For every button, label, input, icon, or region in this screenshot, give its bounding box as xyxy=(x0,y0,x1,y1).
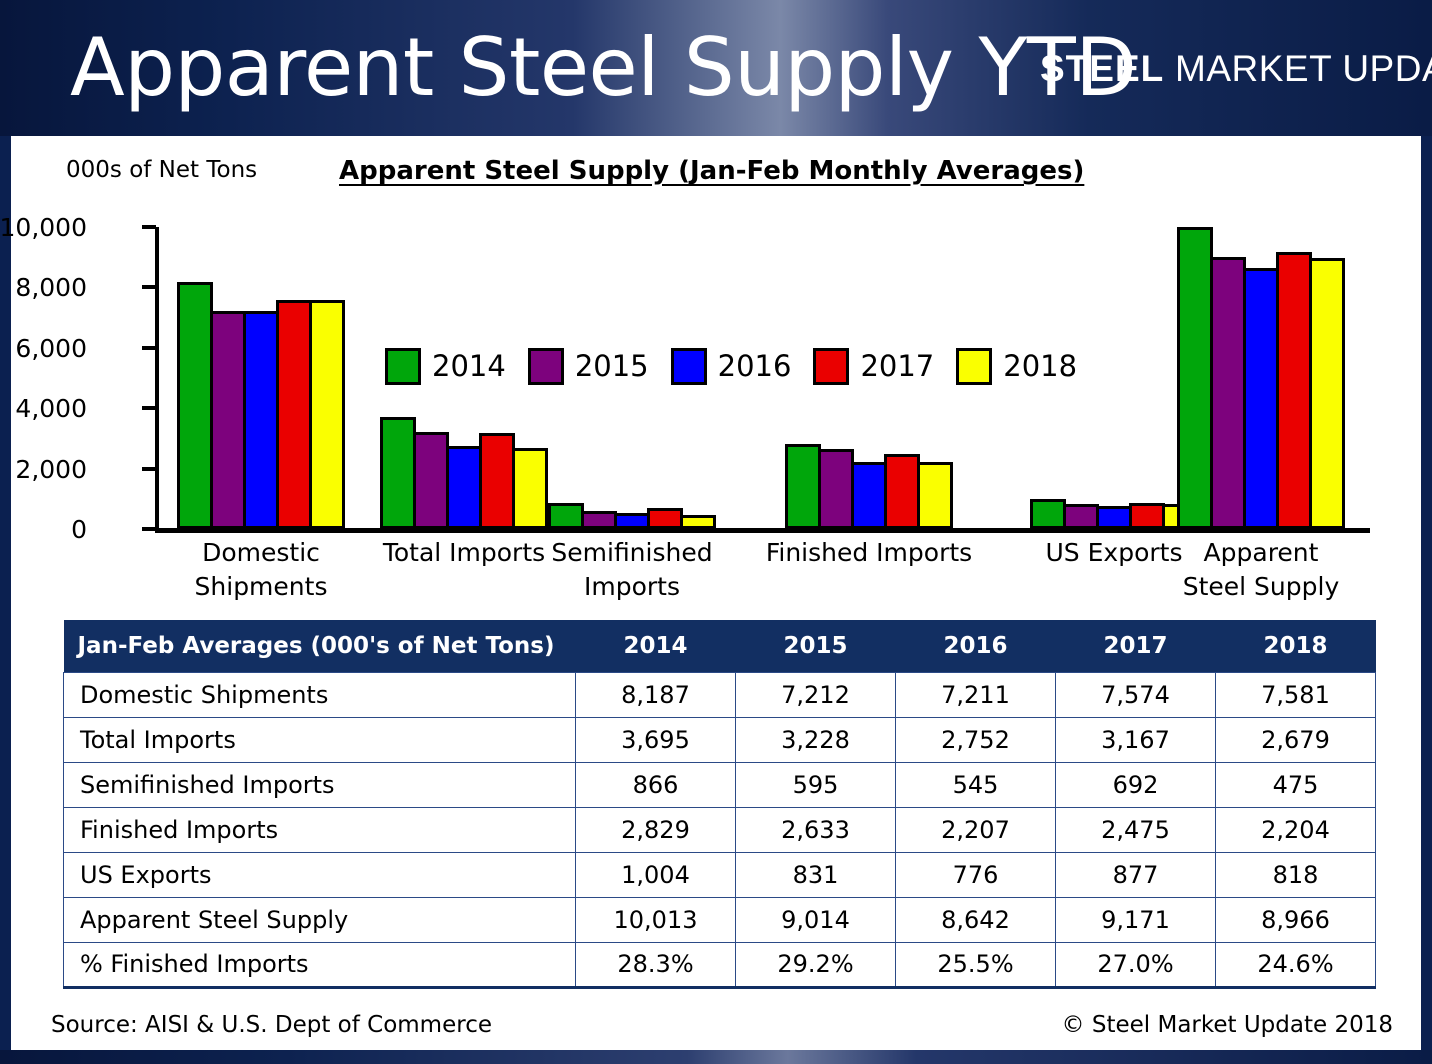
table-cell-5-5: 818 xyxy=(1216,852,1376,897)
table-row: Semifinished Imports866595545692475 xyxy=(64,762,1376,807)
table-cell-3-4: 692 xyxy=(1056,762,1216,807)
table-cell-1-5: 7,581 xyxy=(1216,672,1376,717)
table-cell-1-2: 7,212 xyxy=(736,672,896,717)
table-cell-3-5: 475 xyxy=(1216,762,1376,807)
y-tick-label-10000: 10,000 xyxy=(0,213,87,242)
y-tick-label-6000: 6,000 xyxy=(0,334,87,363)
page-title: Apparent Steel Supply YTD xyxy=(70,22,1136,114)
bar-2015-3[interactable] xyxy=(581,511,617,529)
table-header-year-2017: 2017 xyxy=(1056,620,1216,672)
table-row: US Exports1,004831776877818 xyxy=(64,852,1376,897)
chart-units-label: 000s of Net Tons xyxy=(66,157,257,183)
table-cell-6-5: 8,966 xyxy=(1216,897,1376,942)
table-cell-3-1: 866 xyxy=(576,762,736,807)
table-cell-label-5: US Exports xyxy=(64,852,576,897)
table-cell-1-1: 8,187 xyxy=(576,672,736,717)
x-axis-label-1: DomesticShipments xyxy=(151,536,371,604)
bar-2014-5[interactable] xyxy=(1030,499,1066,529)
table-cell-label-3: Semifinished Imports xyxy=(64,762,576,807)
table-cell-1-3: 7,211 xyxy=(896,672,1056,717)
bar-2015-4[interactable] xyxy=(818,449,854,529)
bar-2016-1[interactable] xyxy=(243,311,279,529)
bar-2014-6[interactable] xyxy=(1177,227,1213,529)
table-cell-label-1: Domestic Shipments xyxy=(64,672,576,717)
y-tick-2000 xyxy=(142,467,156,471)
bar-2015-5[interactable] xyxy=(1063,504,1099,529)
x-axis-label-line2-1: Shipments xyxy=(151,570,371,604)
source-text: Source: AISI & U.S. Dept of Commerce xyxy=(51,1012,492,1038)
table-cell-label-7: % Finished Imports xyxy=(64,942,576,987)
table-row: Finished Imports2,8292,6332,2072,4752,20… xyxy=(64,807,1376,852)
slide-root: Apparent Steel Supply YTD STEEL MARKET U… xyxy=(0,0,1432,1064)
bar-2018-3[interactable] xyxy=(680,515,716,529)
table-cell-2-4: 3,167 xyxy=(1056,717,1216,762)
bar-2017-6[interactable] xyxy=(1276,252,1312,529)
logo-word-steel: STEEL xyxy=(1040,48,1164,89)
table-cell-2-5: 2,679 xyxy=(1216,717,1376,762)
table-cell-5-3: 776 xyxy=(896,852,1056,897)
y-tick-0 xyxy=(142,527,156,531)
table-header-row-label: Jan-Feb Averages (000's of Net Tons) xyxy=(64,620,576,672)
table-cell-2-1: 3,695 xyxy=(576,717,736,762)
table-cell-2-3: 2,752 xyxy=(896,717,1056,762)
table-cell-6-3: 8,642 xyxy=(896,897,1056,942)
table-body: Domestic Shipments8,1877,2127,2117,5747,… xyxy=(64,672,1376,987)
table-cell-5-1: 1,004 xyxy=(576,852,736,897)
bar-2018-4[interactable] xyxy=(917,462,953,529)
x-axis-label-3: SemifinishedImports xyxy=(522,536,742,604)
bar-2016-2[interactable] xyxy=(446,446,482,529)
table-cell-3-2: 595 xyxy=(736,762,896,807)
chart-area: 000s of Net Tons Apparent Steel Supply (… xyxy=(0,136,1432,606)
logo-word-update: UPDATE xyxy=(1342,48,1432,89)
bar-2017-2[interactable] xyxy=(479,433,515,529)
bar-2017-5[interactable] xyxy=(1129,503,1165,529)
bar-group-5 xyxy=(1030,227,1195,529)
table-row: Apparent Steel Supply10,0139,0148,6429,1… xyxy=(64,897,1376,942)
bar-2018-2[interactable] xyxy=(512,448,548,529)
bar-2015-6[interactable] xyxy=(1210,257,1246,529)
table-row: Total Imports3,6953,2282,7523,1672,679 xyxy=(64,717,1376,762)
y-tick-4000 xyxy=(142,406,156,410)
y-tick-label-0: 0 xyxy=(0,515,87,544)
table-cell-label-2: Total Imports xyxy=(64,717,576,762)
x-axis-label-line2-3: Imports xyxy=(522,570,742,604)
table-cell-4-5: 2,204 xyxy=(1216,807,1376,852)
bar-2018-6[interactable] xyxy=(1309,258,1345,529)
bar-2018-1[interactable] xyxy=(309,300,345,529)
y-tick-label-8000: 8,000 xyxy=(0,273,87,302)
x-axis-label-line1-6: Apparent xyxy=(1151,536,1371,570)
bar-group-3 xyxy=(548,227,713,529)
x-axis-label-line1-3: Semifinished xyxy=(522,536,742,570)
data-table: Jan-Feb Averages (000's of Net Tons) 201… xyxy=(63,620,1376,989)
footer: Source: AISI & U.S. Dept of Commerce © S… xyxy=(11,1012,1421,1048)
x-axis-label-4: Finished Imports xyxy=(759,536,979,570)
y-tick-6000 xyxy=(142,346,156,350)
bar-2016-5[interactable] xyxy=(1096,506,1132,529)
table-header-year-2015: 2015 xyxy=(736,620,896,672)
bar-2016-4[interactable] xyxy=(851,462,887,529)
table-cell-7-5: 24.6% xyxy=(1216,942,1376,987)
x-axis-label-line1-4: Finished Imports xyxy=(759,536,979,570)
table-cell-4-1: 2,829 xyxy=(576,807,736,852)
y-axis-line xyxy=(155,227,159,529)
chart-plot: 02,0004,0006,0008,00010,000 xyxy=(155,227,1370,529)
table-cell-1-4: 7,574 xyxy=(1056,672,1216,717)
bar-2017-4[interactable] xyxy=(884,454,920,529)
table-cell-7-1: 28.3% xyxy=(576,942,736,987)
y-tick-label-2000: 2,000 xyxy=(0,455,87,484)
copyright-text: © Steel Market Update 2018 xyxy=(1062,1012,1393,1038)
bottom-accent-bar xyxy=(0,1050,1432,1064)
table-cell-7-3: 25.5% xyxy=(896,942,1056,987)
table-cell-label-4: Finished Imports xyxy=(64,807,576,852)
bar-2016-6[interactable] xyxy=(1243,268,1279,529)
bar-2015-1[interactable] xyxy=(210,311,246,529)
x-axis-label-6: ApparentSteel Supply xyxy=(1151,536,1371,604)
header-banner: Apparent Steel Supply YTD STEEL MARKET U… xyxy=(0,0,1432,136)
bar-2014-4[interactable] xyxy=(785,444,821,529)
bar-group-1 xyxy=(177,227,342,529)
bar-2015-2[interactable] xyxy=(413,432,449,529)
table-row: Domestic Shipments8,1877,2127,2117,5747,… xyxy=(64,672,1376,717)
table-cell-3-3: 545 xyxy=(896,762,1056,807)
smu-logo: STEEL MARKET UPDATE xyxy=(1018,8,1418,128)
bar-2017-3[interactable] xyxy=(647,508,683,529)
bar-2017-1[interactable] xyxy=(276,300,312,529)
x-axis-label-line2-6: Steel Supply xyxy=(1151,570,1371,604)
bar-group-2 xyxy=(380,227,545,529)
table-header-year-2014: 2014 xyxy=(576,620,736,672)
table-cell-6-1: 10,013 xyxy=(576,897,736,942)
y-tick-10000 xyxy=(142,225,156,229)
table-row: % Finished Imports28.3%29.2%25.5%27.0%24… xyxy=(64,942,1376,987)
table-cell-7-4: 27.0% xyxy=(1056,942,1216,987)
table-cell-label-6: Apparent Steel Supply xyxy=(64,897,576,942)
chart-title: Apparent Steel Supply (Jan-Feb Monthly A… xyxy=(339,156,1084,186)
data-table-wrapper: Jan-Feb Averages (000's of Net Tons) 201… xyxy=(63,620,1375,989)
table-cell-6-4: 9,171 xyxy=(1056,897,1216,942)
x-axis-label-line1-1: Domestic xyxy=(151,536,371,570)
y-tick-8000 xyxy=(142,285,156,289)
table-header-year-2016: 2016 xyxy=(896,620,1056,672)
bar-2016-3[interactable] xyxy=(614,513,650,529)
table-head: Jan-Feb Averages (000's of Net Tons) 201… xyxy=(64,620,1376,672)
bar-group-6 xyxy=(1177,227,1342,529)
y-tick-label-4000: 4,000 xyxy=(0,394,87,423)
bar-2014-2[interactable] xyxy=(380,417,416,529)
smu-logo-text: STEEL MARKET UPDATE xyxy=(1040,50,1432,88)
bar-2014-1[interactable] xyxy=(177,282,213,529)
table-cell-6-2: 9,014 xyxy=(736,897,896,942)
table-cell-4-3: 2,207 xyxy=(896,807,1056,852)
table-cell-2-2: 3,228 xyxy=(736,717,896,762)
bar-group-4 xyxy=(785,227,950,529)
bar-2014-3[interactable] xyxy=(548,503,584,529)
table-cell-5-4: 877 xyxy=(1056,852,1216,897)
table-cell-7-2: 29.2% xyxy=(736,942,896,987)
table-header-year-2018: 2018 xyxy=(1216,620,1376,672)
table-cell-5-2: 831 xyxy=(736,852,896,897)
table-header-row: Jan-Feb Averages (000's of Net Tons) 201… xyxy=(64,620,1376,672)
table-cell-4-2: 2,633 xyxy=(736,807,896,852)
table-cell-4-4: 2,475 xyxy=(1056,807,1216,852)
logo-word-market: MARKET xyxy=(1175,48,1332,89)
